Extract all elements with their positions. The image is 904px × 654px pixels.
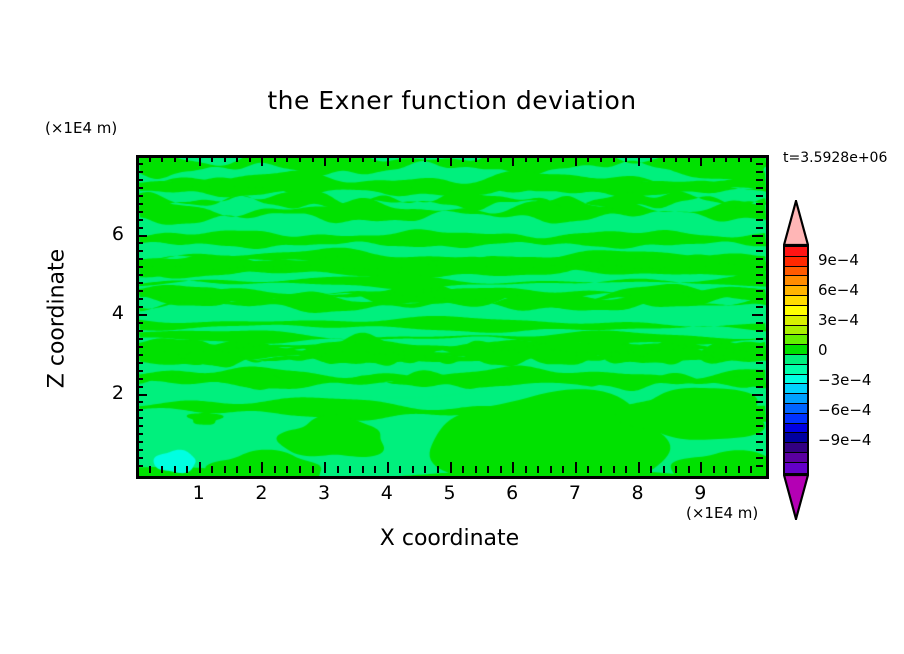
x-tick-bottom (587, 466, 589, 473)
colorbar-band (785, 345, 807, 355)
colorbar-band (785, 335, 807, 345)
x-tick-bottom (650, 466, 652, 473)
colorbar-label: 0 (818, 341, 828, 359)
x-tick-bottom (412, 466, 414, 473)
y-tick-label: 2 (84, 382, 124, 404)
colorbar-band (785, 463, 807, 473)
x-tick-bottom (525, 466, 527, 473)
y-tick-right (756, 370, 763, 372)
x-tick-top (387, 155, 389, 166)
y-tick-right (756, 401, 763, 403)
y-tick-right (756, 187, 763, 189)
y-tick-left (136, 250, 143, 252)
y-axis-title: Z coordinate (45, 239, 70, 399)
y-tick-right (756, 250, 763, 252)
x-tick-top (324, 155, 326, 166)
y-tick-left (136, 433, 143, 435)
x-tick-bottom (462, 466, 464, 473)
x-tick-bottom (387, 462, 389, 473)
x-tick-bottom (299, 466, 301, 473)
x-tick-bottom (688, 466, 690, 473)
y-tick-right (756, 258, 763, 260)
y-tick-left (136, 282, 143, 284)
x-tick-top (299, 155, 301, 162)
x-tick-top (424, 155, 426, 162)
y-tick-right (756, 322, 763, 324)
x-tick-top (337, 155, 339, 162)
y-tick-left (136, 457, 143, 459)
x-tick-top (713, 155, 715, 162)
y-tick-label: 6 (84, 223, 124, 245)
x-tick-bottom (638, 462, 640, 473)
x-tick-top (199, 155, 201, 166)
x-tick-top (638, 155, 640, 166)
y-tick-left (136, 338, 143, 340)
y-tick-left (136, 314, 147, 316)
plot-area (136, 155, 769, 479)
y-tick-left (136, 330, 143, 332)
y-tick-right (756, 465, 763, 467)
colorbar-overflow-top-icon (783, 200, 809, 246)
y-tick-right (756, 378, 763, 380)
figure-canvas: the Exner function deviation (×1E4 m) (×… (0, 0, 904, 654)
colorbar-band (785, 365, 807, 375)
x-tick-bottom (324, 462, 326, 473)
x-tick-top (575, 155, 577, 166)
x-tick-bottom (537, 466, 539, 473)
x-tick-bottom (450, 462, 452, 473)
x-tick-top (613, 155, 615, 162)
x-tick-top (688, 155, 690, 162)
x-tick-top (261, 155, 263, 166)
x-tick-top (562, 155, 564, 162)
colorbar-overflow-bottom-icon (783, 474, 809, 520)
x-tick-bottom (174, 466, 176, 473)
x-tick-bottom (312, 466, 314, 473)
x-tick-bottom (199, 462, 201, 473)
y-tick-left (136, 195, 143, 197)
x-tick-bottom (211, 466, 213, 473)
colorbar-band (785, 296, 807, 306)
y-tick-left (136, 266, 143, 268)
y-tick-left (136, 211, 143, 213)
x-tick-bottom (437, 466, 439, 473)
x-tick-bottom (663, 466, 665, 473)
x-tick-top (675, 155, 677, 162)
y-tick-left (136, 235, 147, 237)
colorbar-band (785, 286, 807, 296)
x-tick-bottom (500, 466, 502, 473)
x-tick-top (186, 155, 188, 162)
x-tick-top (512, 155, 514, 166)
x-tick-top (224, 155, 226, 162)
x-tick-top (738, 155, 740, 162)
x-tick-bottom (575, 462, 577, 473)
x-tick-bottom (337, 466, 339, 473)
y-tick-left (136, 441, 143, 443)
x-tick-bottom (475, 466, 477, 473)
x-tick-top (600, 155, 602, 162)
colorbar-label: 9e−4 (818, 251, 859, 269)
y-tick-left (136, 298, 143, 300)
y-tick-left (136, 449, 143, 451)
colorbar-band (785, 404, 807, 414)
x-tick-bottom (261, 462, 263, 473)
colorbar-label: 3e−4 (818, 311, 859, 329)
x-tick-bottom (374, 466, 376, 473)
y-tick-right (756, 386, 763, 388)
x-tick-top (625, 155, 627, 162)
y-tick-right (756, 163, 763, 165)
y-tick-left (136, 219, 143, 221)
y-tick-left (136, 258, 143, 260)
y-tick-left (136, 242, 143, 244)
x-tick-label: 3 (304, 482, 344, 504)
x-tick-label: 2 (241, 482, 281, 504)
colorbar-band (785, 326, 807, 336)
colorbar-band (785, 384, 807, 394)
x-tick-bottom (550, 466, 552, 473)
y-tick-left (136, 179, 143, 181)
colorbar: 9e−46e−43e−40−3e−4−6e−4−9e−4 (780, 200, 904, 520)
y-axis-unit-label: (×1E4 m) (45, 119, 117, 137)
y-tick-right (756, 338, 763, 340)
x-tick-bottom (750, 466, 752, 473)
x-tick-top (286, 155, 288, 162)
y-tick-right (756, 242, 763, 244)
x-tick-bottom (349, 466, 351, 473)
colorbar-band (785, 424, 807, 434)
y-tick-left (136, 290, 143, 292)
y-tick-left (136, 465, 143, 467)
x-tick-bottom (149, 466, 151, 473)
y-tick-left (136, 322, 143, 324)
timestamp-annotation: t=3.5928e+06 (783, 150, 887, 166)
x-tick-top (174, 155, 176, 162)
x-tick-top (450, 155, 452, 166)
x-tick-bottom (186, 466, 188, 473)
y-tick-right (756, 409, 763, 411)
x-tick-bottom (161, 466, 163, 473)
x-tick-top (500, 155, 502, 162)
colorbar-band (785, 316, 807, 326)
y-tick-right (756, 441, 763, 443)
x-tick-bottom (613, 466, 615, 473)
y-tick-left (136, 354, 143, 356)
x-tick-top (211, 155, 213, 162)
x-tick-top (587, 155, 589, 162)
y-tick-right (756, 179, 763, 181)
x-axis-unit-label: (×1E4 m) (686, 504, 758, 522)
colorbar-band (785, 414, 807, 424)
colorbar-band (785, 355, 807, 365)
x-tick-top (312, 155, 314, 162)
y-tick-right (756, 211, 763, 213)
y-tick-left (136, 394, 147, 396)
y-tick-right (756, 266, 763, 268)
colorbar-bands (783, 245, 809, 475)
colorbar-band (785, 247, 807, 257)
colorbar-band (785, 306, 807, 316)
y-tick-left (136, 378, 143, 380)
x-tick-top (550, 155, 552, 162)
x-tick-bottom (487, 466, 489, 473)
x-tick-top (663, 155, 665, 162)
y-tick-right (756, 449, 763, 451)
x-tick-bottom (675, 466, 677, 473)
x-tick-bottom (286, 466, 288, 473)
colorbar-label: −6e−4 (818, 401, 871, 419)
y-tick-right (756, 457, 763, 459)
y-tick-right (756, 203, 763, 205)
y-tick-left (136, 203, 143, 205)
x-tick-bottom (249, 466, 251, 473)
y-tick-left (136, 401, 143, 403)
x-tick-top (362, 155, 364, 162)
x-tick-bottom (738, 466, 740, 473)
y-tick-left (136, 362, 143, 364)
x-tick-top (537, 155, 539, 162)
y-tick-right (756, 227, 763, 229)
x-tick-top (399, 155, 401, 162)
colorbar-band (785, 433, 807, 443)
x-tick-label: 5 (430, 482, 470, 504)
x-tick-top (236, 155, 238, 162)
x-tick-bottom (625, 466, 627, 473)
y-tick-right (752, 314, 763, 316)
x-tick-top (700, 155, 702, 166)
x-tick-bottom (274, 466, 276, 473)
x-tick-bottom (236, 466, 238, 473)
y-tick-right (756, 298, 763, 300)
colorbar-label: 6e−4 (818, 281, 859, 299)
x-tick-top (475, 155, 477, 162)
y-tick-right (756, 433, 763, 435)
y-tick-left (136, 425, 143, 427)
x-tick-label: 1 (179, 482, 219, 504)
y-tick-left (136, 227, 143, 229)
x-tick-bottom (713, 466, 715, 473)
colorbar-label: −9e−4 (818, 431, 871, 449)
y-tick-right (756, 171, 763, 173)
x-tick-top (274, 155, 276, 162)
x-tick-label: 4 (367, 482, 407, 504)
y-tick-right (756, 290, 763, 292)
x-tick-top (525, 155, 527, 162)
colorbar-band (785, 257, 807, 267)
x-tick-label: 6 (492, 482, 532, 504)
x-tick-top (412, 155, 414, 162)
x-tick-bottom (562, 466, 564, 473)
x-tick-top (149, 155, 151, 162)
y-tick-left (136, 274, 143, 276)
colorbar-band (785, 394, 807, 404)
y-tick-right (756, 425, 763, 427)
colorbar-band (785, 276, 807, 286)
y-tick-left (136, 163, 143, 165)
y-tick-right (756, 330, 763, 332)
x-tick-top (249, 155, 251, 162)
contour-field (139, 158, 766, 476)
colorbar-band (785, 267, 807, 277)
y-tick-right (756, 274, 763, 276)
x-tick-top (462, 155, 464, 162)
x-tick-top (750, 155, 752, 162)
x-tick-bottom (399, 466, 401, 473)
x-tick-top (725, 155, 727, 162)
x-tick-top (437, 155, 439, 162)
y-tick-right (752, 394, 763, 396)
y-tick-right (756, 346, 763, 348)
colorbar-band (785, 375, 807, 385)
y-tick-left (136, 187, 143, 189)
y-tick-right (756, 354, 763, 356)
y-tick-left (136, 346, 143, 348)
x-tick-bottom (424, 466, 426, 473)
x-tick-top (161, 155, 163, 162)
x-tick-top (374, 155, 376, 162)
y-tick-left (136, 171, 143, 173)
x-tick-top (349, 155, 351, 162)
y-tick-left (136, 417, 143, 419)
x-tick-label: 7 (555, 482, 595, 504)
y-tick-right (756, 219, 763, 221)
x-tick-bottom (224, 466, 226, 473)
y-tick-right (756, 417, 763, 419)
y-tick-right (752, 235, 763, 237)
x-tick-label: 9 (680, 482, 720, 504)
x-tick-bottom (700, 462, 702, 473)
y-tick-right (756, 362, 763, 364)
page-title: the Exner function deviation (0, 86, 904, 115)
y-tick-left (136, 409, 143, 411)
x-tick-bottom (725, 466, 727, 473)
x-tick-top (487, 155, 489, 162)
colorbar-band (785, 443, 807, 453)
colorbar-label: −3e−4 (818, 371, 871, 389)
x-tick-top (650, 155, 652, 162)
colorbar-band (785, 453, 807, 463)
y-tick-right (756, 195, 763, 197)
y-tick-left (136, 386, 143, 388)
x-tick-bottom (512, 462, 514, 473)
x-axis-title: X coordinate (136, 526, 763, 551)
y-tick-right (756, 306, 763, 308)
y-tick-right (756, 282, 763, 284)
x-tick-label: 8 (618, 482, 658, 504)
y-tick-left (136, 306, 143, 308)
x-tick-bottom (362, 466, 364, 473)
x-tick-bottom (600, 466, 602, 473)
y-tick-label: 4 (84, 302, 124, 324)
y-tick-left (136, 370, 143, 372)
